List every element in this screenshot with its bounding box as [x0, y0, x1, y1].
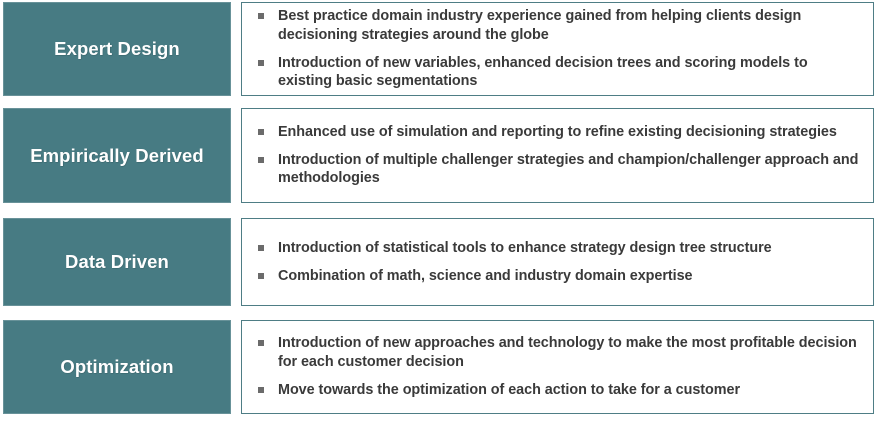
- row-label-box-data-driven[interactable]: Data Driven: [3, 218, 231, 306]
- matrix-row: Optimization Introduction of new approac…: [0, 320, 881, 414]
- matrix-row: Data Driven Introduction of statistical …: [0, 218, 881, 306]
- bullet-list: Introduction of statistical tools to enh…: [242, 239, 873, 285]
- square-bullet-icon: [258, 387, 264, 393]
- square-bullet-icon: [258, 245, 264, 251]
- matrix-row: Expert Design Best practice domain indus…: [0, 2, 881, 96]
- square-bullet-icon: [258, 60, 264, 66]
- list-item-text: Introduction of new variables, enhanced …: [278, 55, 808, 90]
- bullet-list: Enhanced use of simulation and reporting…: [242, 123, 873, 188]
- list-item-text: Introduction of multiple challenger stra…: [278, 152, 858, 187]
- square-bullet-icon: [258, 13, 264, 19]
- list-item: Introduction of multiple challenger stra…: [254, 151, 859, 188]
- list-item-text: Combination of math, science and industr…: [278, 268, 693, 284]
- list-item: Move towards the optimization of each ac…: [254, 381, 859, 400]
- square-bullet-icon: [258, 157, 264, 163]
- list-item: Combination of math, science and industr…: [254, 267, 859, 286]
- row-label-box-optimization[interactable]: Optimization: [3, 320, 231, 414]
- row-content-box-expert-design: Best practice domain industry experience…: [241, 2, 874, 96]
- row-content-box-empirically-derived: Enhanced use of simulation and reporting…: [241, 108, 874, 203]
- list-item-text: Best practice domain industry experience…: [278, 8, 801, 43]
- square-bullet-icon: [258, 273, 264, 279]
- list-item-text: Introduction of statistical tools to enh…: [278, 240, 772, 256]
- maturity-matrix-diagram: Expert Design Best practice domain indus…: [0, 0, 881, 424]
- list-item: Introduction of new variables, enhanced …: [254, 54, 859, 91]
- row-label-box-empirically-derived[interactable]: Empirically Derived: [3, 108, 231, 203]
- bullet-list: Best practice domain industry experience…: [242, 7, 873, 91]
- bullet-list: Introduction of new approaches and techn…: [242, 334, 873, 399]
- row-label-text: Optimization: [54, 355, 179, 379]
- row-content-box-data-driven: Introduction of statistical tools to enh…: [241, 218, 874, 306]
- row-label-text: Empirically Derived: [24, 144, 210, 168]
- row-label-text: Data Driven: [59, 250, 175, 274]
- list-item-text: Introduction of new approaches and techn…: [278, 335, 857, 370]
- row-label-box-expert-design[interactable]: Expert Design: [3, 2, 231, 96]
- square-bullet-icon: [258, 340, 264, 346]
- list-item: Introduction of statistical tools to enh…: [254, 239, 859, 258]
- matrix-row: Empirically Derived Enhanced use of simu…: [0, 108, 881, 203]
- square-bullet-icon: [258, 129, 264, 135]
- list-item: Introduction of new approaches and techn…: [254, 334, 859, 371]
- row-label-text: Expert Design: [48, 37, 186, 61]
- row-content-box-optimization: Introduction of new approaches and techn…: [241, 320, 874, 414]
- list-item: Enhanced use of simulation and reporting…: [254, 123, 859, 142]
- list-item: Best practice domain industry experience…: [254, 7, 859, 44]
- list-item-text: Enhanced use of simulation and reporting…: [278, 124, 837, 140]
- list-item-text: Move towards the optimization of each ac…: [278, 382, 740, 398]
